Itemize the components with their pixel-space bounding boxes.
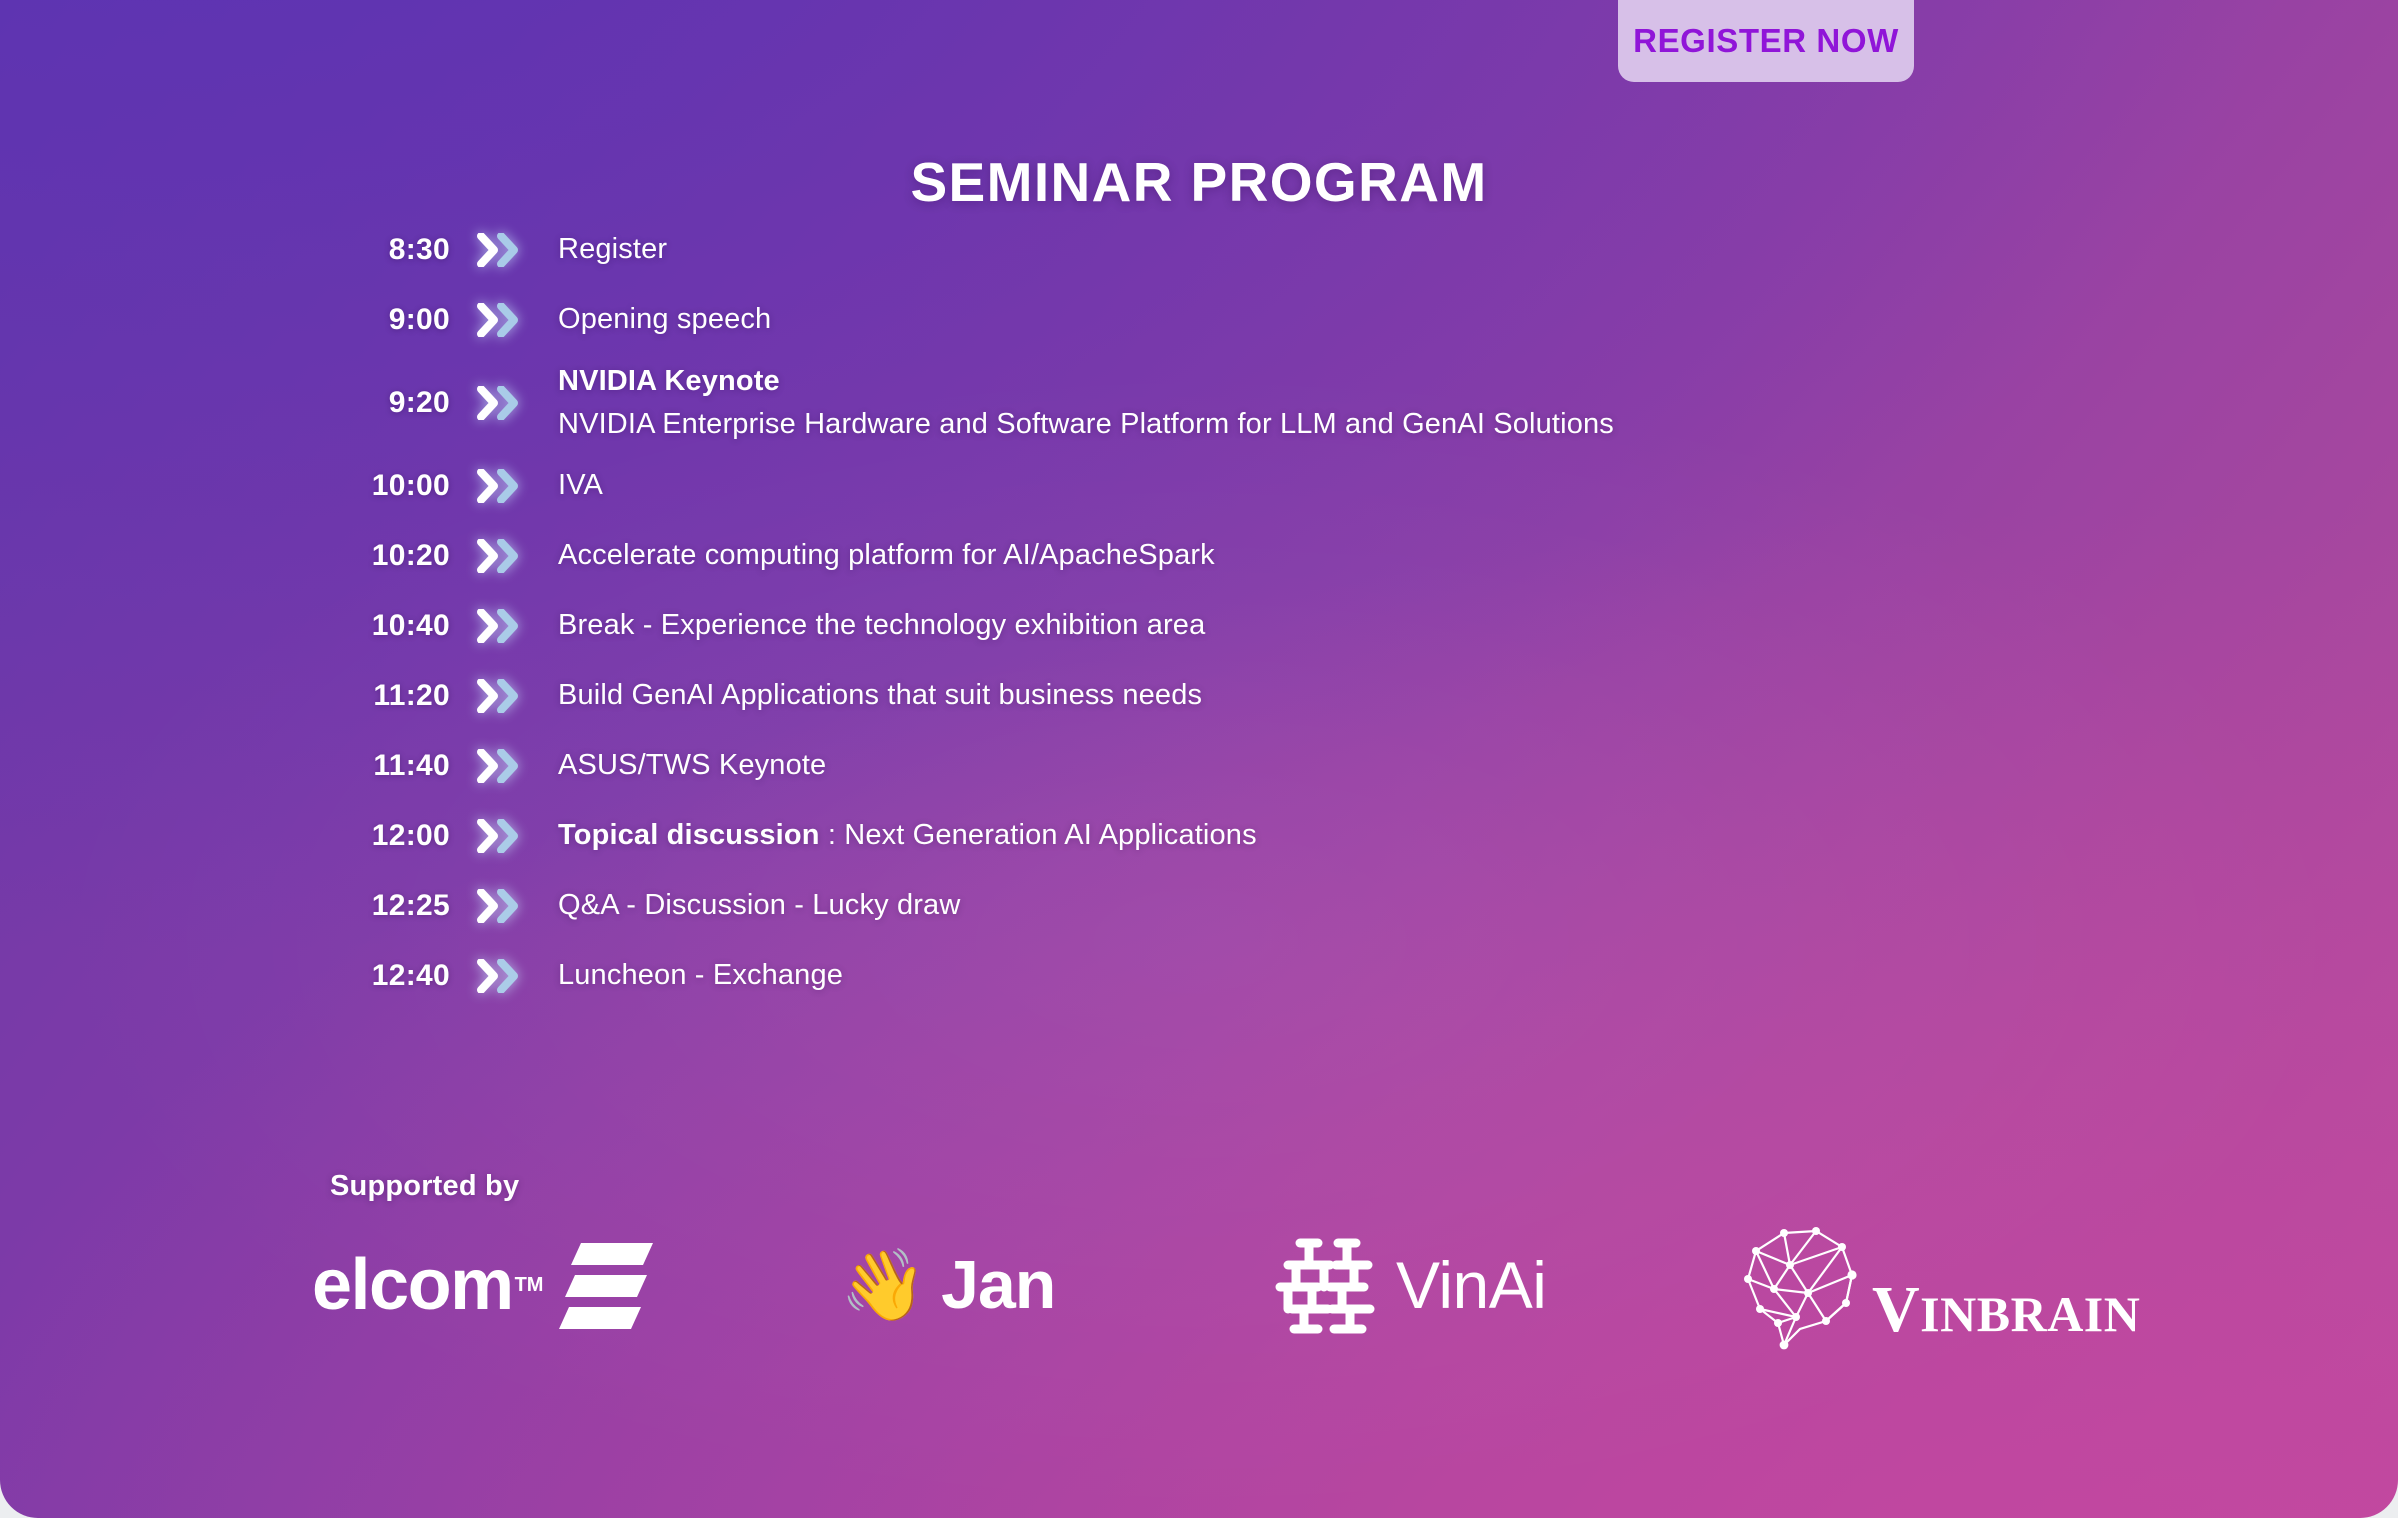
agenda-row-text: IVA [558,465,2032,506]
agenda-row: 8:30 Register [332,215,2032,285]
agenda-row-text: NVIDIA Enterprise Hardware and Software … [558,404,2032,445]
double-chevron-right-icon [450,959,538,993]
agenda-row-body: Topical discussion : Next Generation AI … [538,815,2032,856]
vinbrain-rest: INBRAIN [1920,1286,2140,1342]
jan-wordmark: Jan [941,1251,1055,1319]
agenda-row-body: Register [538,229,2032,270]
agenda-row: 10:40 Break - Experience the technology … [332,591,2032,661]
agenda-row-text: Opening speech [558,299,2032,340]
trademark-icon: TM [515,1274,544,1297]
polygon-brain-icon [1730,1217,1880,1353]
agenda-row-text: Build GenAI Applications that suit busin… [558,675,2032,716]
agenda-row-text: Accelerate computing platform for AI/Apa… [558,535,2032,576]
agenda-row-time: 12:25 [332,889,450,923]
agenda-row-text: Q&A - Discussion - Lucky draw [558,885,2032,926]
agenda-row-time: 12:00 [332,819,450,853]
agenda-row-time: 8:30 [332,233,450,267]
double-chevron-right-icon [450,386,538,420]
agenda-row: 12:40 Luncheon - Exchange [332,941,2032,1011]
agenda-row-body: Q&A - Discussion - Lucky draw [538,885,2032,926]
agenda-row: 12:00 Topical discussion : Next Generati… [332,801,2032,871]
agenda-row-body: Build GenAI Applications that suit busin… [538,675,2032,716]
agenda-row-body: Accelerate computing platform for AI/Apa… [538,535,2032,576]
register-now-button[interactable]: REGISTER NOW [1618,0,1914,82]
vinai-logo: VinAi [1272,1215,1546,1355]
double-chevron-right-icon [450,819,538,853]
supported-by-label: Supported by [330,1170,519,1203]
agenda-row-time: 10:00 [332,469,450,503]
page-title: SEMINAR PROGRAM [0,150,2398,214]
agenda-row-body: IVA [538,465,2032,506]
agenda-row-time: 9:00 [332,303,450,337]
agenda-row-heading: NVIDIA Keynote [558,361,2032,402]
vinbrain-initial: V [1872,1273,1920,1346]
elcom-wordmark: elcom [312,1249,513,1321]
agenda-row: 10:00 IVA [332,451,2032,521]
elcom-logo: elcom TM [312,1215,655,1355]
agenda-row-text: Register [558,229,2032,270]
agenda-row-time: 9:20 [332,386,450,420]
sponsor-logo-strip: elcom TM 👋 Jan [300,1215,2180,1355]
agenda-row-time: 11:40 [332,749,450,783]
agenda-row-text: Luncheon - Exchange [558,955,2032,996]
double-chevron-right-icon [450,469,538,503]
double-chevron-right-icon [450,679,538,713]
agenda-row-body: NVIDIA Keynote NVIDIA Enterprise Hardwar… [538,361,2032,445]
agenda-row-body: ASUS/TWS Keynote [538,745,2032,786]
double-chevron-right-icon [450,609,538,643]
agenda-row-body: Opening speech [538,299,2032,340]
agenda-row: 11:40 ASUS/TWS Keynote [332,731,2032,801]
agenda-row: 11:20 Build GenAI Applications that suit… [332,661,2032,731]
seminar-program-slide: REGISTER NOW SEMINAR PROGRAM 8:30 Regist… [0,0,2398,1518]
agenda-row-time: 11:20 [332,679,450,713]
agenda-row-text-mixed: Topical discussion : Next Generation AI … [558,815,2032,856]
agenda-row-strong: Topical discussion [558,819,820,851]
double-chevron-right-icon [450,749,538,783]
agenda-row: 10:20 Accelerate computing platform for … [332,521,2032,591]
agenda-row: 9:20 NVIDIA Keynote NVIDIA Enterprise Ha… [332,355,2032,451]
double-chevron-right-icon [450,889,538,923]
agenda-row-time: 12:40 [332,959,450,993]
agenda-row-text: Break - Experience the technology exhibi… [558,605,2032,646]
circuit-nodes-icon [1272,1233,1380,1337]
agenda-row-body: Break - Experience the technology exhibi… [538,605,2032,646]
waving-hand-emoji: 👋 [840,1250,927,1320]
agenda-row-time: 10:20 [332,539,450,573]
agenda-row: 12:25 Q&A - Discussion - Lucky draw [332,871,2032,941]
agenda-row-time: 10:40 [332,609,450,643]
agenda-row-text: ASUS/TWS Keynote [558,745,2032,786]
agenda-row-body: Luncheon - Exchange [538,955,2032,996]
agenda-row-text: : Next Generation AI Applications [820,819,1257,851]
jan-logo: 👋 Jan [840,1215,1055,1355]
agenda-list: 8:30 Register 9:00 Opening speech [332,215,2032,1011]
double-chevron-right-icon [450,303,538,337]
double-chevron-right-icon [450,539,538,573]
vinbrain-logo: VINBRAIN [1730,1215,2140,1355]
agenda-row: 9:00 Opening speech [332,285,2032,355]
vinai-wordmark: VinAi [1396,1252,1546,1318]
double-chevron-right-icon [450,233,538,267]
elcom-e-mark-icon [559,1239,655,1331]
vinbrain-wordmark: VINBRAIN [1872,1277,2140,1343]
